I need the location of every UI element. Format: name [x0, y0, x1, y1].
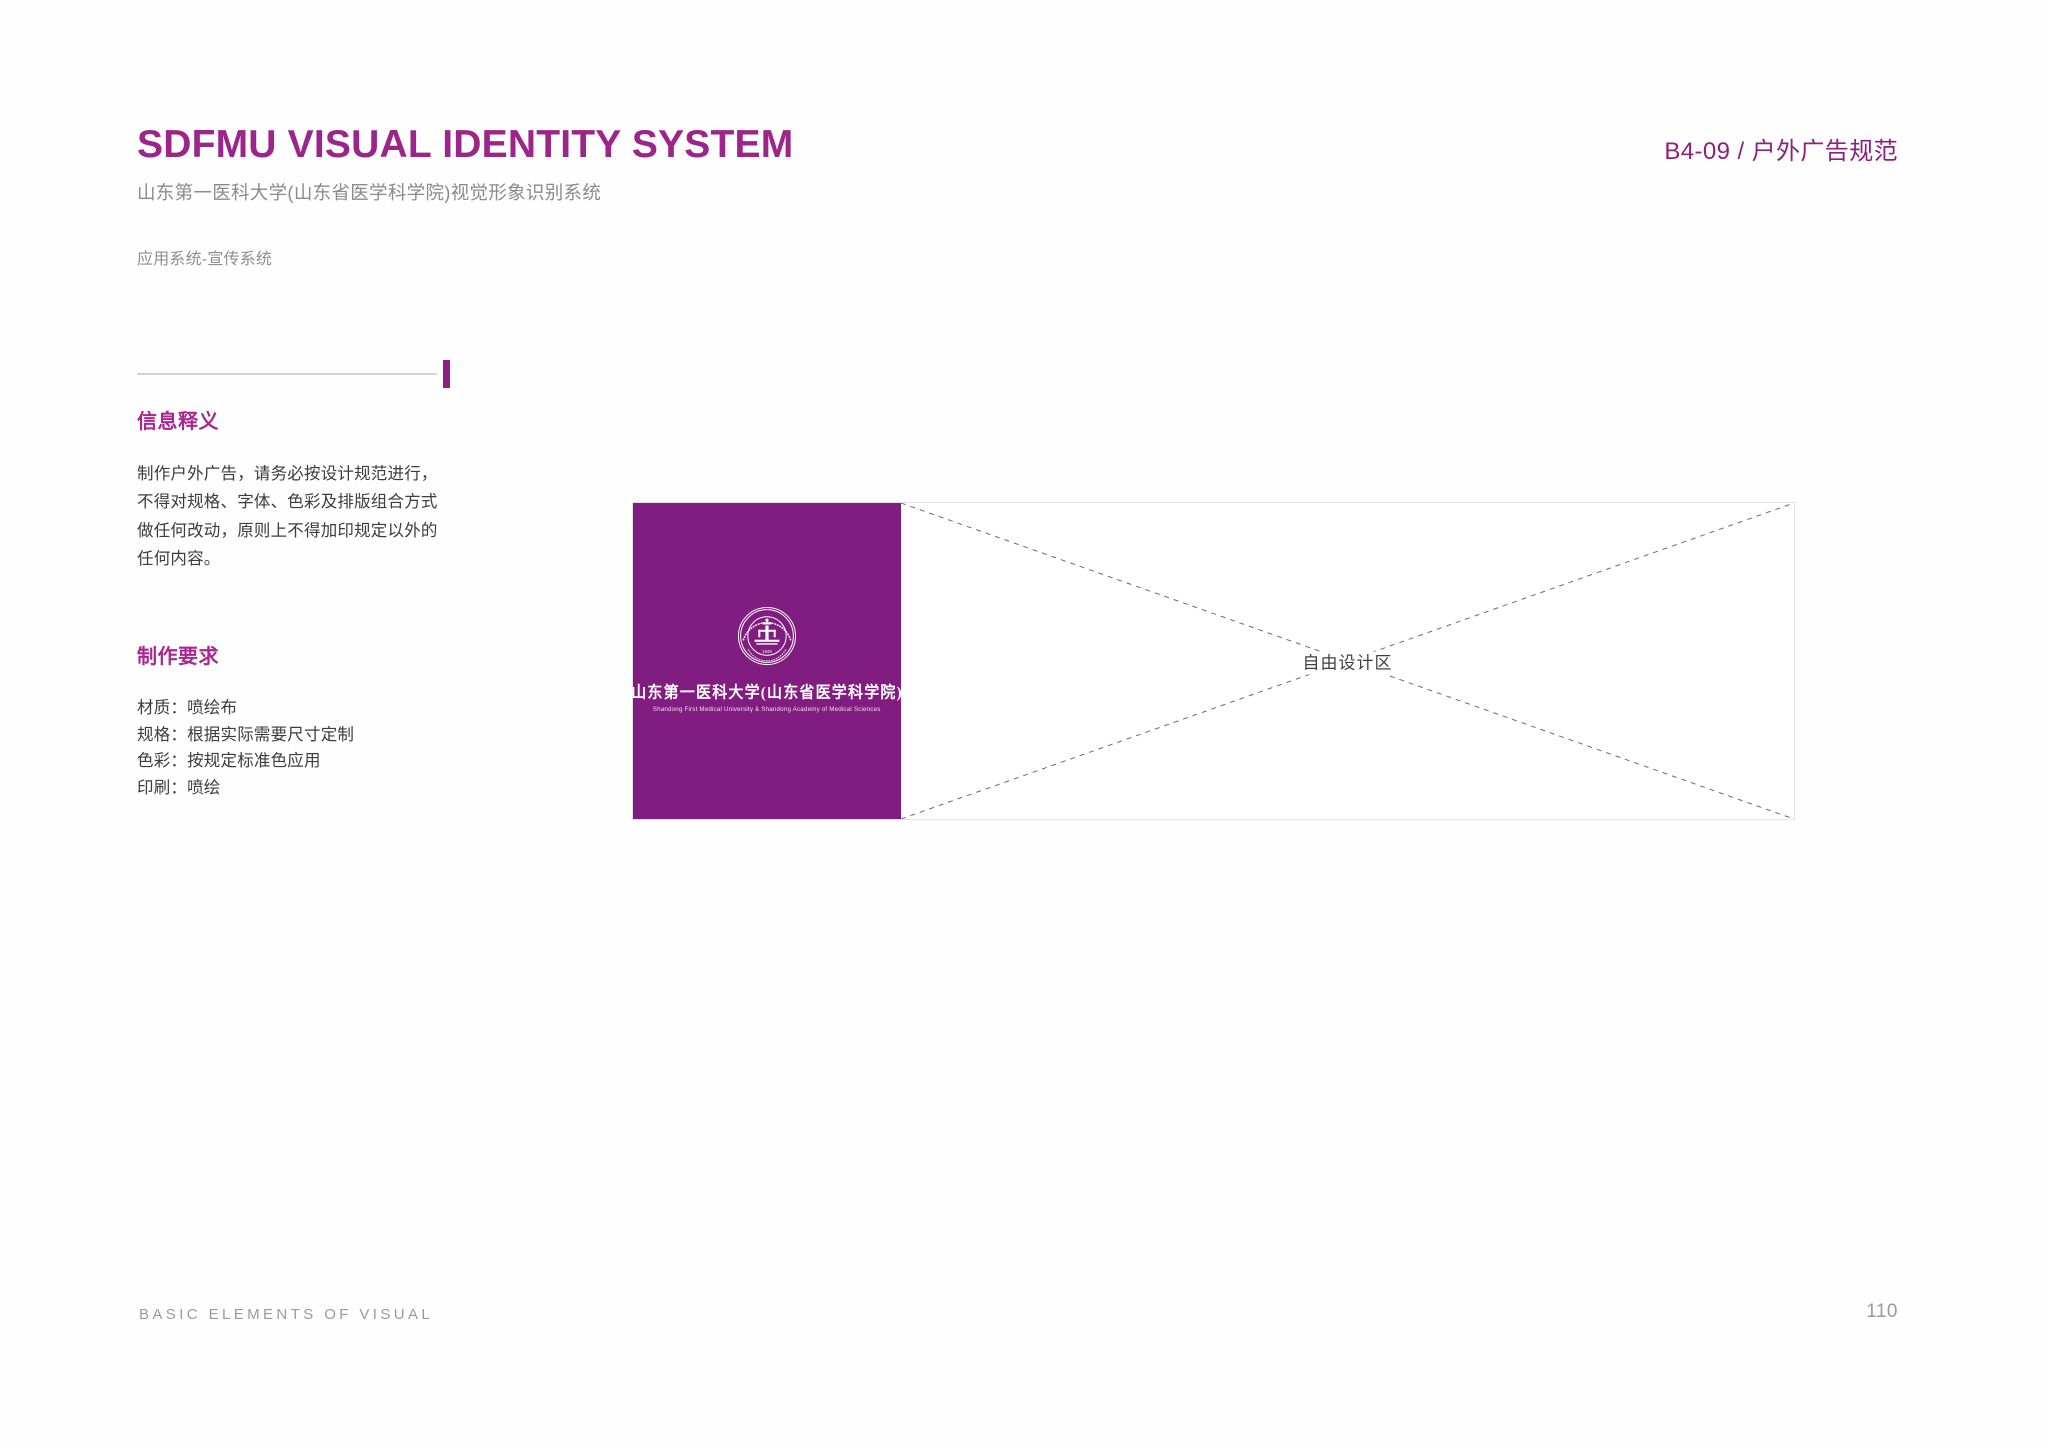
footer-section-name: BASIC ELEMENTS OF VISUAL [139, 1306, 433, 1323]
section-label: 应用系统-宣传系统 [137, 245, 272, 269]
free-design-zone-label: 自由设计区 [901, 649, 1794, 674]
divider-line [137, 373, 437, 375]
page-code-label: B4-09 / 户外广告规范 [1664, 131, 1898, 166]
sdfmu-university-emblem-icon: 1949 [736, 605, 798, 667]
logo-english-name: Shandong First Medical University & Shan… [653, 706, 881, 713]
info-block-body: 制作户外广告，请务必按设计规范进行， 不得对规格、字体、色彩及排版组合方式 做任… [137, 460, 467, 574]
spec-line-printing: 印刷：喷绘 [137, 775, 467, 802]
info-block: 信息释义 制作户外广告，请务必按设计规范进行， 不得对规格、字体、色彩及排版组合… [137, 405, 467, 574]
page-title: SDFMU VISUAL IDENTITY SYSTEM [137, 125, 793, 166]
section-divider [137, 360, 449, 388]
info-line: 任何内容。 [137, 545, 467, 573]
production-block: 制作要求 材质：喷绘布 规格：根据实际需要尺寸定制 色彩：按规定标准色应用 印刷… [137, 640, 467, 802]
info-line: 做任何改动，原则上不得加印规定以外的 [137, 517, 467, 545]
banner-free-design-zone: 自由设计区 [901, 503, 1794, 819]
university-logo: 1949 山东第一医科大学(山东省医学科学院) Shandong First M… [631, 605, 903, 713]
svg-text:1949: 1949 [762, 649, 772, 654]
page-header: SDFMU VISUAL IDENTITY SYSTEM 山东第一医科大学(山东… [137, 125, 793, 205]
info-line: 不得对规格、字体、色彩及排版组合方式 [137, 488, 467, 516]
production-spec-list: 材质：喷绘布 规格：根据实际需要尺寸定制 色彩：按规定标准色应用 印刷：喷绘 [137, 695, 467, 802]
document-page: SDFMU VISUAL IDENTITY SYSTEM 山东第一医科大学(山东… [0, 0, 2048, 1448]
spec-line-material: 材质：喷绘布 [137, 695, 467, 722]
spec-line-color: 色彩：按规定标准色应用 [137, 748, 467, 775]
outdoor-banner-mockup: 1949 山东第一医科大学(山东省医学科学院) Shandong First M… [632, 502, 1795, 820]
free-design-zone-text: 自由设计区 [1293, 652, 1403, 675]
logo-chinese-name: 山东第一医科大学(山东省医学科学院) [631, 680, 903, 702]
footer-page-number: 110 [1866, 1301, 1898, 1323]
banner-logo-panel: 1949 山东第一医科大学(山东省医学科学院) Shandong First M… [633, 503, 901, 819]
page-subtitle: 山东第一医科大学(山东省医学科学院)视觉形象识别系统 [137, 179, 793, 205]
info-line: 制作户外广告，请务必按设计规范进行， [137, 460, 467, 488]
production-block-heading: 制作要求 [137, 640, 467, 669]
divider-tick-mark [443, 360, 450, 388]
info-block-heading: 信息释义 [137, 405, 467, 434]
spec-line-size: 规格：根据实际需要尺寸定制 [137, 722, 467, 749]
